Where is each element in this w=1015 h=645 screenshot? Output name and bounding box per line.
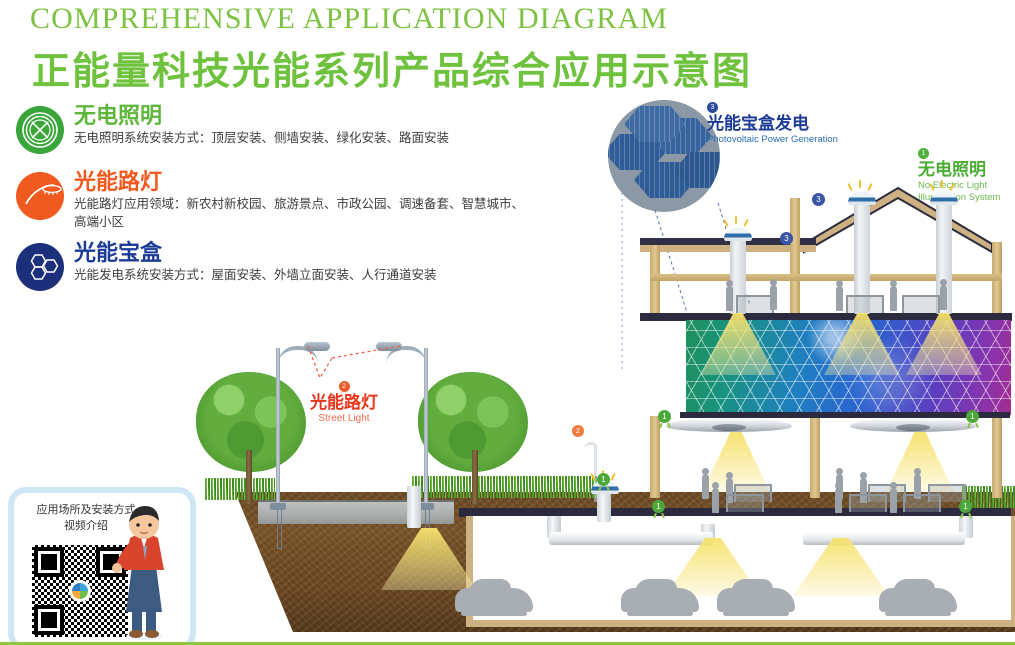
column — [790, 198, 800, 321]
person-silhouette — [702, 474, 709, 499]
qr-center-logo-icon — [69, 580, 91, 602]
callout-title-cn: 无电照明 — [918, 161, 1000, 180]
legend-item-title: 无电照明 — [74, 104, 536, 127]
legend-item-desc: 光能发电系统安装方式：屋面安装、外墙立面安装、人行通道安装 — [74, 266, 526, 284]
street-lamp-connector-lines — [240, 340, 470, 400]
surface-light-collector — [597, 492, 611, 522]
callout-title-en: Photovoltaic Power Generation — [707, 134, 838, 146]
car-silhouette — [717, 588, 795, 612]
sun-rays-icon — [927, 180, 961, 192]
tree-trunk — [246, 450, 252, 504]
car-silhouette — [879, 588, 957, 612]
underground-parking — [466, 516, 1015, 627]
sun-rays-icon — [845, 180, 879, 192]
callout-badge: 1 — [918, 148, 929, 159]
sun-rays-icon — [721, 216, 755, 228]
horizontal-beam — [650, 274, 800, 281]
ceiling-light-fixture — [850, 418, 976, 432]
person-silhouette — [890, 488, 897, 513]
person-silhouette — [835, 488, 842, 513]
badge-light-left: 1 — [658, 410, 671, 423]
badge-photovoltaic-roof-right: 3 — [812, 193, 825, 206]
callout-photovoltaic-power-generation: 3 光能宝盒发电 Photovoltaic Power Generation — [707, 96, 838, 146]
ceiling-light-fixture — [666, 418, 792, 432]
legend-item-desc: 无电照明系统安装方式：顶层安装、侧墙安装、绿化安装、路面安装 — [74, 129, 526, 147]
person-silhouette — [770, 285, 777, 310]
column — [650, 416, 660, 498]
callout-badge: 3 — [707, 102, 718, 113]
column — [992, 416, 1002, 498]
person-silhouette — [726, 286, 733, 311]
desk-silhouette — [726, 494, 764, 512]
badge-light-surface-b: 1 — [652, 500, 665, 513]
light-downpipe — [407, 486, 421, 528]
qr-finder-bottom-left — [34, 605, 64, 635]
desk-silhouette — [736, 295, 774, 313]
legend-item-solar-street-light: 光能路灯 光能路灯应用领域：新农村新校园、旅游景点、市政公园、调速备套、智慧城市… — [16, 170, 536, 231]
badge-light-surface-c: 1 — [959, 500, 972, 513]
fixture-lens — [896, 424, 930, 431]
green-lens-icon — [16, 106, 64, 154]
legend-item-desc: 光能路灯应用领域：新农村新校园、旅游景点、市政公园、调速备套、智慧城市、高端小区 — [74, 195, 526, 231]
orange-streetlamp-icon — [16, 172, 64, 220]
legend: 无电照明 无电照明系统安装方式：顶层安装、侧墙安装、绿化安装、路面安装 光能路灯… — [16, 104, 536, 307]
horizontal-light-duct — [803, 532, 965, 545]
desk-silhouette — [846, 295, 884, 313]
page-title-english: COMPREHENSIVE APPLICATION DIAGRAM — [30, 2, 668, 36]
lamp-base — [270, 503, 286, 510]
badge-light-right: 1 — [966, 410, 979, 423]
horizontal-beam — [790, 274, 1002, 281]
person-silhouette — [712, 488, 719, 513]
desk-silhouette — [902, 295, 940, 313]
light-cone — [793, 538, 889, 596]
horizontal-light-duct — [549, 532, 713, 545]
comprehensive-application-diagram-poster: COMPREHENSIVE APPLICATION DIAGRAM 正能量科技光… — [0, 0, 1015, 645]
lamp-footing — [277, 510, 282, 549]
mascot-illustration — [112, 498, 176, 640]
fixture-lens — [712, 424, 746, 431]
desk-silhouette — [849, 494, 887, 512]
callout-title-cn: 光能宝盒发电 — [707, 115, 838, 134]
badge-light-surface-a: 1 — [597, 473, 610, 486]
light-dome-cap — [930, 192, 958, 205]
person-silhouette — [890, 286, 897, 311]
legend-item-title: 光能宝盒 — [74, 241, 536, 264]
tree-trunk — [472, 450, 478, 504]
light-dome-cap — [848, 192, 876, 205]
legend-item-no-electric-light: 无电照明 无电照明系统安装方式：顶层安装、侧墙安装、绿化安装、路面安装 — [16, 104, 536, 160]
legend-item-photovoltaic-box: 光能宝盒 光能发电系统安装方式：屋面安装、外墙立面安装、人行通道安装 — [16, 241, 536, 297]
qr-finder-top-left — [34, 547, 64, 577]
light-dome-cap — [724, 228, 752, 241]
car-silhouette — [621, 588, 699, 612]
blue-hexagon-icon — [16, 243, 64, 291]
legend-item-title: 光能路灯 — [74, 170, 536, 193]
column — [992, 242, 1002, 321]
column — [650, 245, 660, 321]
person-silhouette — [940, 285, 947, 310]
badge-street-light: 2 — [572, 425, 584, 437]
page-title-chinese: 正能量科技光能系列产品综合应用示意图 — [32, 40, 752, 95]
person-silhouette — [836, 286, 843, 311]
car-silhouette — [455, 588, 533, 612]
desk-silhouette — [903, 494, 941, 512]
badge-photovoltaic-roof-left: 3 — [780, 232, 793, 245]
building-cross-section: 3 3 1 1 — [640, 182, 1015, 512]
column — [810, 416, 820, 498]
